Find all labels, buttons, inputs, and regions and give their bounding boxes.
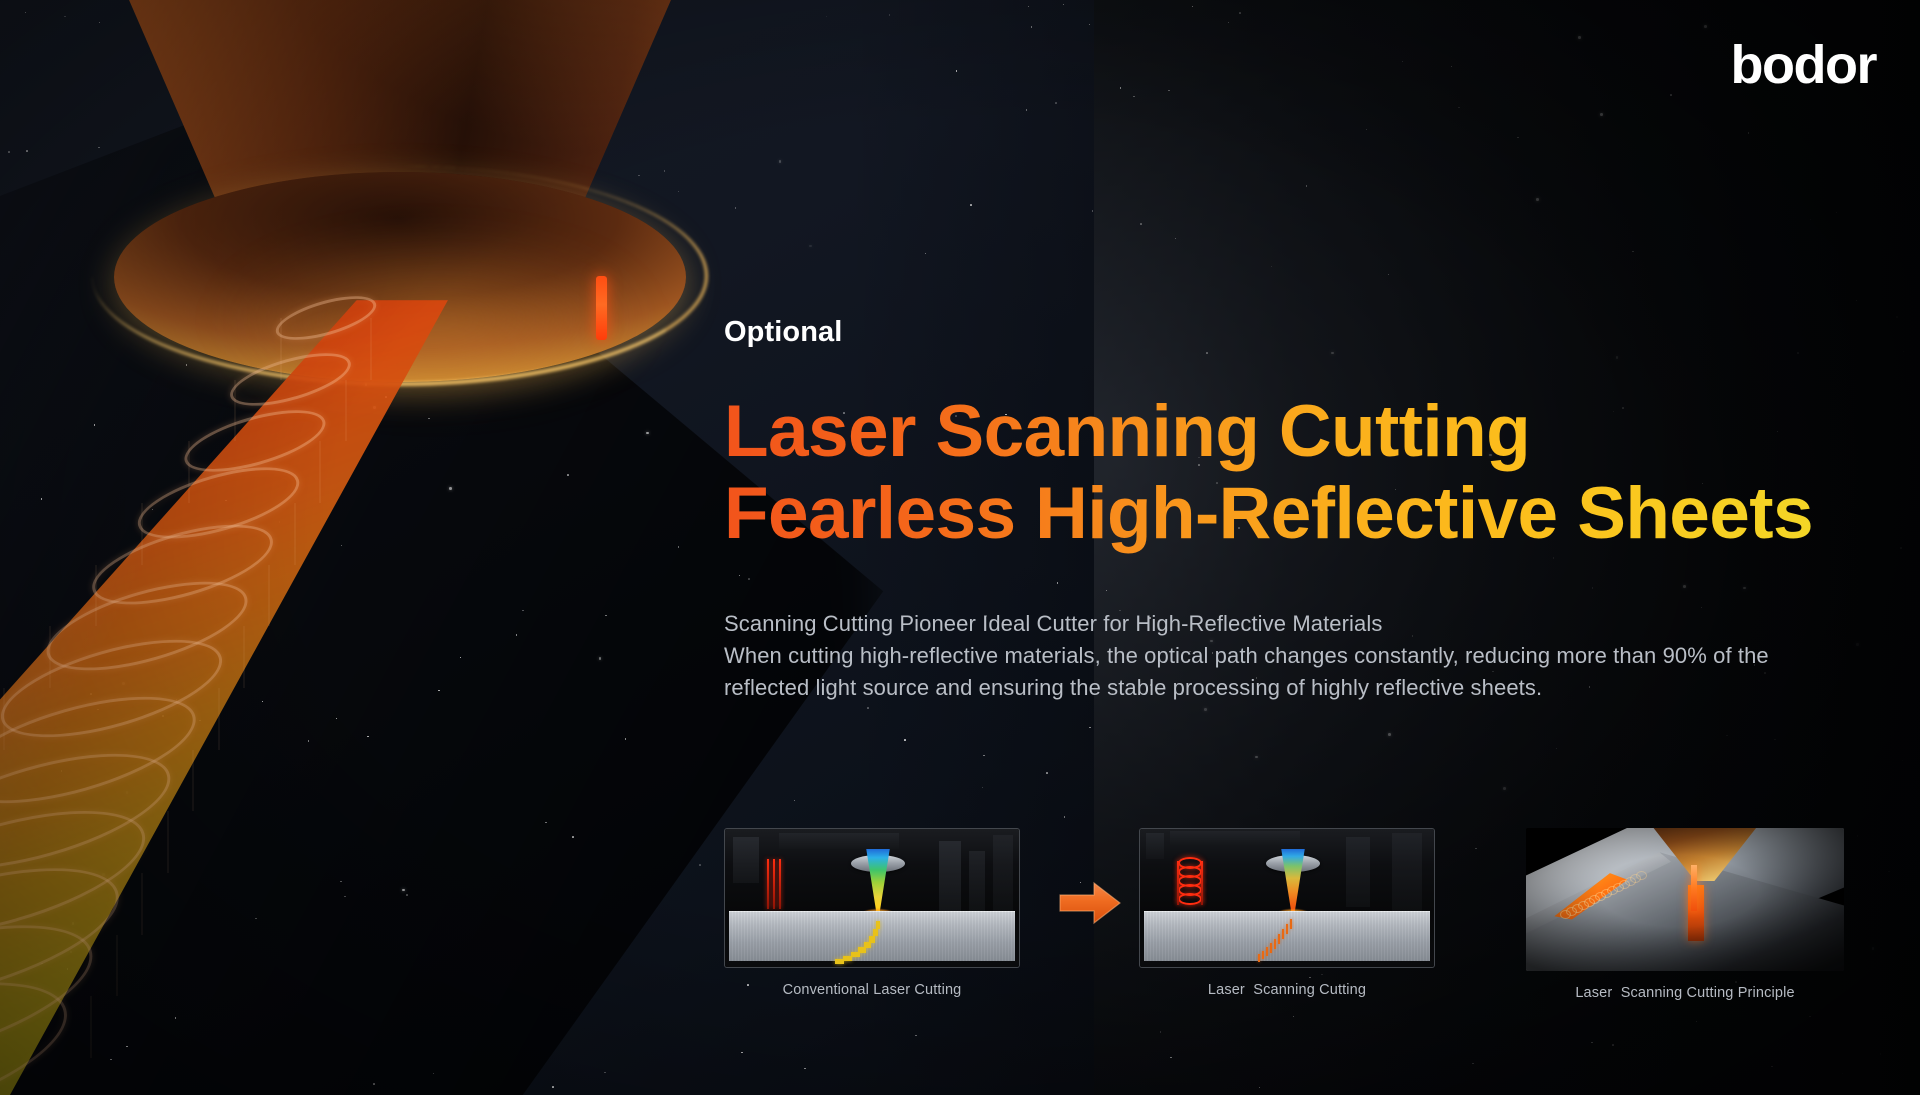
thumbnail-caption: Conventional Laser Cutting (724, 982, 1020, 998)
content-block: Optional Laser Scanning Cutting Fearless… (724, 318, 1844, 704)
scene-vignette (1526, 828, 1844, 971)
lede-text: Scanning Cutting Pioneer Ideal Cutter fo… (724, 608, 1844, 640)
poster-stage: bodor Optional Laser Scanning Cutting Fe… (0, 0, 1920, 1095)
metal-plate (1144, 911, 1430, 961)
thumbnail-scanning[interactable]: Laser Scanning Cutting (1139, 828, 1435, 998)
kicker-label: Optional (724, 318, 1844, 347)
page-title: Laser Scanning Cutting Fearless High-Ref… (724, 391, 1844, 556)
thumbnail-principle[interactable]: Laser Scanning Cutting Principle (1526, 828, 1844, 1001)
headline-line-1: Laser Scanning Cutting (724, 391, 1530, 472)
thumbnail-image-scanning (1139, 828, 1435, 968)
thumbnail-caption: Laser Scanning Cutting (1139, 982, 1435, 998)
body-text: When cutting high-reflective materials, … (724, 643, 1769, 700)
thumbnail-conventional[interactable]: Conventional Laser Cutting (724, 828, 1020, 998)
description-block: Scanning Cutting Pioneer Ideal Cutter fo… (724, 608, 1844, 704)
thumbnail-image-conventional (724, 828, 1020, 968)
thumbnail-row: Conventional Laser Cutting (724, 828, 1844, 1038)
right-arrow-icon (1058, 880, 1122, 926)
bodor-logo[interactable]: bodor (1731, 38, 1876, 92)
thumbnail-caption: Laser Scanning Cutting Principle (1526, 985, 1844, 1001)
thumbnail-image-principle (1526, 828, 1844, 971)
headline-line-2: Fearless High-Reflective Sheets (724, 473, 1844, 555)
scene-3d (1526, 828, 1844, 971)
